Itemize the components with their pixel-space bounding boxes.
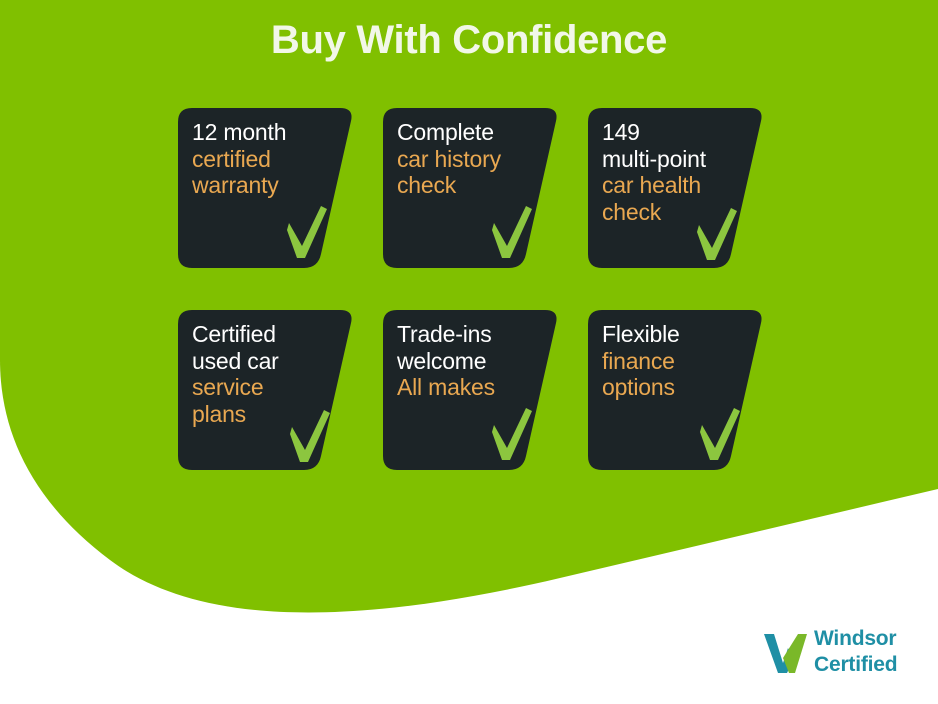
benefit-line: options <box>602 374 744 401</box>
benefit-card-grid: 12 month certified warranty Complete car… <box>178 108 760 512</box>
benefit-line: Flexible <box>602 321 744 348</box>
check-icon <box>693 208 739 262</box>
check-icon <box>286 410 332 464</box>
benefit-line: used car <box>192 348 334 375</box>
benefit-card-text: Complete car history check <box>397 119 539 199</box>
benefit-line: certified <box>192 146 334 173</box>
benefit-card-complete-car-history-check[interactable]: Complete car history check <box>383 108 559 268</box>
benefit-line: Certified <box>192 321 334 348</box>
brand-logo[interactable]: Windsor Certified <box>762 626 930 684</box>
benefit-card-row-bottom: Certified used car service plans Trade-i… <box>178 310 760 470</box>
check-icon <box>488 206 534 260</box>
benefit-card-text: Trade-ins welcome All makes <box>397 321 539 401</box>
benefit-line: All makes <box>397 374 539 401</box>
check-icon <box>488 408 534 462</box>
benefit-line: welcome <box>397 348 539 375</box>
brand-name-line2: Certified <box>814 652 897 678</box>
benefit-line: 149 <box>602 119 744 146</box>
windsor-w-icon <box>762 628 810 676</box>
benefit-card-text: 12 month certified warranty <box>192 119 334 199</box>
brand-name-line1: Windsor <box>814 626 897 652</box>
check-icon <box>283 206 329 260</box>
benefit-card-149-multi-point-car-health-check[interactable]: 149 multi-point car health check <box>588 108 764 268</box>
brand-logo-text: Windsor Certified <box>814 626 897 679</box>
poster-canvas: Buy With Confidence 12 month certified w… <box>0 0 938 704</box>
benefit-card-flexible-finance-options[interactable]: Flexible finance options <box>588 310 764 470</box>
benefit-line: service <box>192 374 334 401</box>
benefit-line: car health <box>602 172 744 199</box>
benefit-card-12-month-certified-warranty[interactable]: 12 month certified warranty <box>178 108 354 268</box>
benefit-card-trade-ins-welcome-all-makes[interactable]: Trade-ins welcome All makes <box>383 310 559 470</box>
benefit-line: Trade-ins <box>397 321 539 348</box>
benefit-card-certified-used-car-service-plans[interactable]: Certified used car service plans <box>178 310 354 470</box>
benefit-line: finance <box>602 348 744 375</box>
benefit-line: check <box>397 172 539 199</box>
benefit-line: car history <box>397 146 539 173</box>
benefit-line: warranty <box>192 172 334 199</box>
benefit-line: Complete <box>397 119 539 146</box>
check-icon <box>696 408 742 462</box>
benefit-line: multi-point <box>602 146 744 173</box>
benefit-line: 12 month <box>192 119 334 146</box>
page-title: Buy With Confidence <box>0 18 938 62</box>
benefit-card-row-top: 12 month certified warranty Complete car… <box>178 108 760 268</box>
benefit-card-text: Flexible finance options <box>602 321 744 401</box>
